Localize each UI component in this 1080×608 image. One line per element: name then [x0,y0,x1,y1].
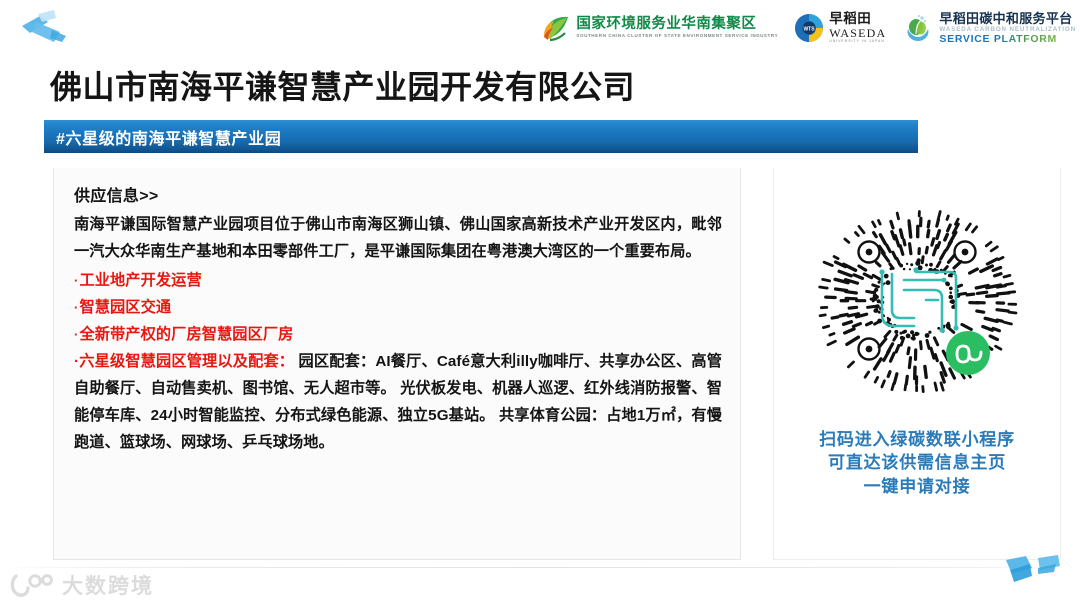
section-banner-label: #六星级的南海平谦智慧产业园 [44,125,281,149]
svg-text:WTS: WTS [804,27,816,33]
list-item: ·智慧园区交通 [74,294,722,321]
list-item-label: 全新带产权的厂房智慧园区厂房 [79,326,293,343]
section-banner: #六星级的南海平谦智慧产业园 [44,120,918,153]
logo-en-label: WASEDA CARBON NEUTRALIZATION [939,27,1076,33]
supply-info-heading: 供应信息>> [74,182,722,206]
logo-waseda: WTS 早稻田 WASEDA UNIVERSITY IN JAPAN [794,12,886,44]
logo-cn-label: 国家环境服务业华南集聚区 [576,17,778,32]
footer-divider [0,567,1080,568]
dashu-kuajing-logo-icon [10,572,56,598]
leaf-swirl-icon [541,13,571,43]
qr-caption: 扫码进入绿碳数联小程序 可直达该供需信息主页 一键申请对接 [819,428,1015,498]
list-item-label-highlight: 六星级智慧园区管理以及配套： [79,353,294,370]
logo-waseda-carbon-platform: 早稻田碳中和服务平台 WASEDA CARBON NEUTRALIZATION … [902,12,1076,45]
waseda-swirl-icon: WTS [794,13,824,43]
supply-info-card: 供应信息>> 南海平谦国际智慧产业园项目位于佛山市南海区狮山镇、佛山国家高新技术… [53,168,741,560]
list-item: ·全新带产权的厂房智慧园区厂房 [74,321,722,348]
qr-caption-line: 可直达该供需信息主页 [819,451,1015,474]
logo-en-label: WASEDA [829,27,886,39]
logo-cn-label: 早稻田碳中和服务平台 [939,12,1076,25]
feature-bullet-list: ·工业地产开发运营 ·智慧园区交通 ·全新带产权的厂房智慧园区厂房 ·六星级智慧… [74,267,722,456]
logo-en-sublabel: UNIVERSITY IN JAPAN [829,40,886,44]
list-item-label: 工业地产开发运营 [79,272,201,289]
wechat-miniprogram-qr-icon[interactable] [804,206,1030,406]
qr-caption-line: 一键申请对接 [819,475,1015,498]
list-item-label: 智慧园区交通 [79,299,171,316]
page-title: 佛山市南海平谦智慧产业园开发有限公司 [50,62,635,108]
header-logo-strip: 国家环境服务业华南集聚区 SOUTHERN CHINA CLUSTER OF S… [516,4,1076,52]
hands-leaf-icon [902,12,934,44]
slide-page: 国家环境服务业华南集聚区 SOUTHERN CHINA CLUSTER OF S… [0,0,1080,608]
footer-watermark-label: 大数跨境 [62,570,154,600]
logo-cn-label: 早稻田 [829,12,886,26]
list-item-amenities: ·六星级智慧园区管理以及配套： 园区配套：AI餐厅、Café意大利illy咖啡厅… [74,348,722,456]
list-item: ·工业地产开发运营 [74,267,722,294]
footer-watermark: 大数跨境 [10,570,154,600]
blue-ribbon-shape-icon [14,8,74,48]
logo-south-china-cluster: 国家环境服务业华南集聚区 SOUTHERN CHINA CLUSTER OF S… [541,13,778,43]
wechat-miniprogram-badge-icon [946,331,990,375]
logo-en-label: SOUTHERN CHINA CLUSTER OF STATE ENVIRONM… [576,34,778,39]
qr-caption-line: 扫码进入绿碳数联小程序 [819,428,1015,451]
supply-info-paragraph: 南海平谦国际智慧产业园项目位于佛山市南海区狮山镇、佛山国家高新技术产业开发区内，… [74,211,722,265]
logo-en-sublabel: SERVICE PLATFORM [939,34,1076,45]
qr-panel: 扫码进入绿碳数联小程序 可直达该供需信息主页 一键申请对接 [773,168,1061,560]
